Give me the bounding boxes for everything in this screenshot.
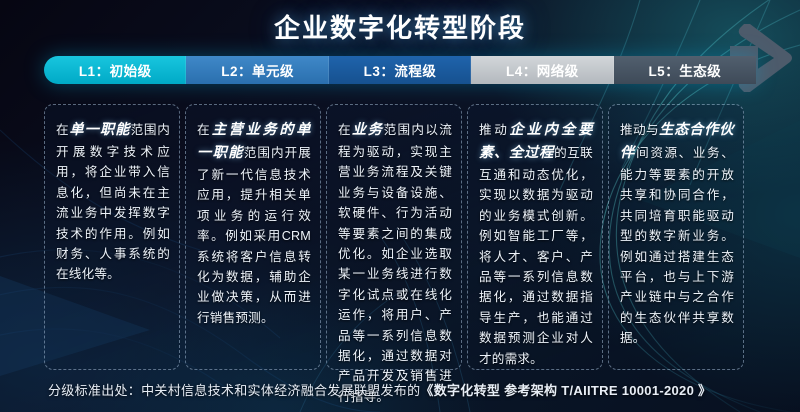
level-segment-l2[interactable]: L2：单元级	[186, 56, 328, 84]
source-note: 分级标准出处：中关村信息技术和实体经济融合发展联盟发布的《数字化转型 参考架构 …	[48, 380, 711, 399]
level-segment-l1[interactable]: L1：初始级	[44, 56, 186, 84]
level-card-l2: 在主营业务的单一职能范围内开展了新一代信息技术应用，提升相关单项业务的运行效率。…	[185, 104, 321, 370]
card-lead-text-l4: 推动	[479, 123, 509, 137]
card-body-text-l3: 范围内以流程为驱动，实现主营业务流程及关键业务与设备设施、软硬件、行为活动等要素…	[338, 123, 452, 404]
level-description-cards: 在单一职能范围内开展数字技术应用，将企业带入信息化，但尚未在主流业务中发挥数字技…	[44, 104, 760, 370]
level-card-l1: 在单一职能范围内开展数字技术应用，将企业带入信息化，但尚未在主流业务中发挥数字技…	[44, 104, 180, 370]
card-body-text-l5: 间资源、业务、能力等要素的开放共享和协同合作，共同培育职能驱动型的数字新业务。例…	[620, 146, 734, 345]
level-segment-l4[interactable]: L4：网络级	[471, 56, 613, 84]
level-card-l3: 在业务范围内以流程为驱动，实现主营业务流程及关键业务与设备设施、软硬件、行为活动…	[326, 104, 462, 370]
source-note-prefix: 分级标准出处：中关村信息技术和实体经济融合发展联盟发布的	[48, 383, 420, 398]
card-body-text-l4: 的互联互通和动态优化，实现以数据为驱动的业务模式创新。例如智能工厂等，将人才、客…	[479, 146, 593, 366]
card-lead-text-l1: 在	[56, 123, 69, 137]
maturity-level-bar: L1：初始级 L2：单元级 L3：流程级 L4：网络级 L5：生态级	[44, 56, 756, 84]
slide-canvas: 企业数字化转型阶段 L1：初始级 L2：单元级 L3：流程级 L4：网络级 L5…	[0, 0, 800, 412]
level-card-l5: 推动与生态合作伙伴间资源、业务、能力等要素的开放共享和协同合作，共同培育职能驱动…	[608, 104, 744, 370]
card-highlight-l1: 单一职能	[69, 122, 130, 138]
source-note-document: 《数字化转型 参考架构 T/AIITRE 10001-2020 》	[420, 383, 711, 398]
page-title: 企业数字化转型阶段	[0, 8, 800, 45]
level-segment-l3[interactable]: L3：流程级	[329, 56, 471, 84]
level-card-l4: 推动企业内全要素、全过程的互联互通和动态优化，实现以数据为驱动的业务模式创新。例…	[467, 104, 603, 370]
card-highlight-l3: 业务	[352, 122, 384, 138]
card-body-text-l2: 范围内开展了新一代信息技术应用，提升相关单项业务的运行效率。例如采用CRM系统将…	[197, 146, 311, 325]
level-segment-l5[interactable]: L5：生态级	[614, 56, 756, 84]
card-lead-text-l5: 推动与	[620, 123, 659, 137]
card-lead-text-l2: 在	[197, 123, 212, 137]
card-lead-text-l3: 在	[338, 123, 352, 137]
card-body-text-l1: 范围内开展数字技术应用，将企业带入信息化，但尚未在主流业务中发挥数字技术的作用。…	[56, 123, 170, 281]
